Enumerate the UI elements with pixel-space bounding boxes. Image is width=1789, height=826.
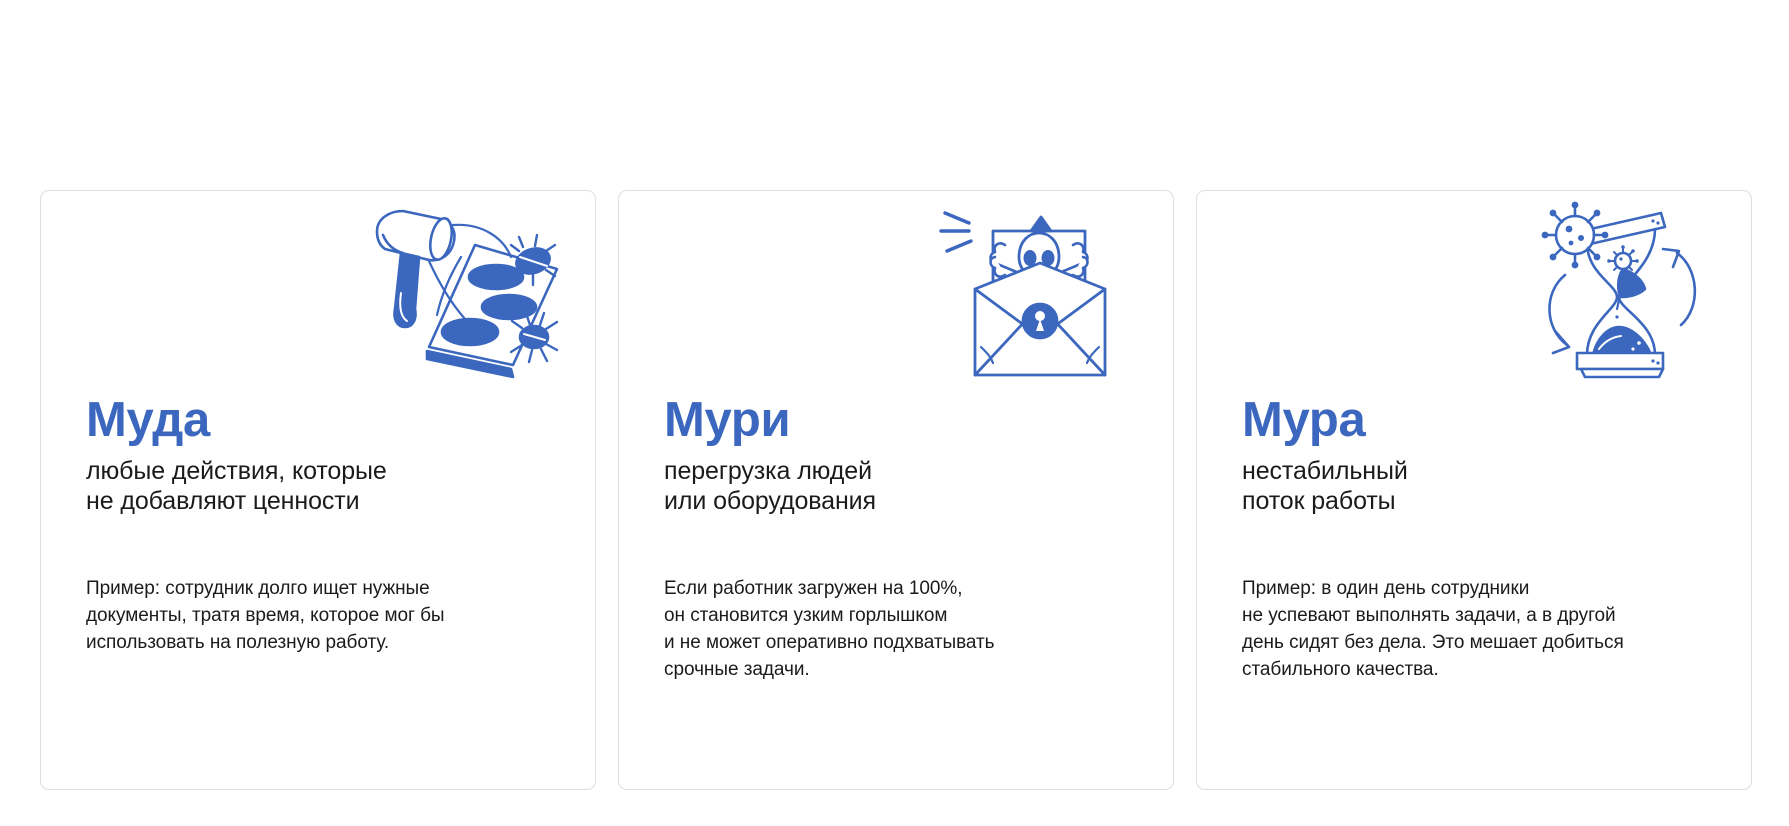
card-subtitle: нестабильный поток работы: [1242, 457, 1731, 516]
card-example-text: Пример: сотрудник долго ищет нужные доку…: [86, 576, 577, 657]
card-title: Мура: [1242, 396, 1731, 445]
slide-root: Муда любые действия, которые не добавляю…: [0, 0, 1789, 826]
card-title: Мури: [664, 396, 1153, 445]
concept-card-list: Муда любые действия, которые не добавляю…: [40, 190, 1752, 790]
envelope-skull-letter-icon: [935, 197, 1145, 387]
concept-card-mura[interactable]: Мура нестабильный поток работы Пример: в…: [1196, 190, 1752, 790]
hourglass-virus-icon: [1513, 197, 1723, 387]
card-body: Мури перегрузка людей или оборудования: [664, 396, 1153, 516]
concept-card-muda[interactable]: Муда любые действия, которые не добавляю…: [40, 190, 596, 790]
card-body: Мура нестабильный поток работы: [1242, 396, 1731, 516]
card-title: Муда: [86, 396, 575, 445]
card-subtitle: перегрузка людей или оборудования: [664, 457, 1153, 516]
concept-card-muri[interactable]: Мури перегрузка людей или оборудования Е…: [618, 190, 1174, 790]
card-subtitle: любые действия, которые не добавляют цен…: [86, 457, 575, 516]
card-body: Муда любые действия, которые не добавляю…: [86, 396, 575, 516]
card-example-text: Пример: в один день сотрудники не успева…: [1242, 576, 1733, 684]
mallet-and-bug-board-icon: [357, 197, 567, 387]
card-example-text: Если работник загружен на 100%, он стано…: [664, 576, 1155, 684]
